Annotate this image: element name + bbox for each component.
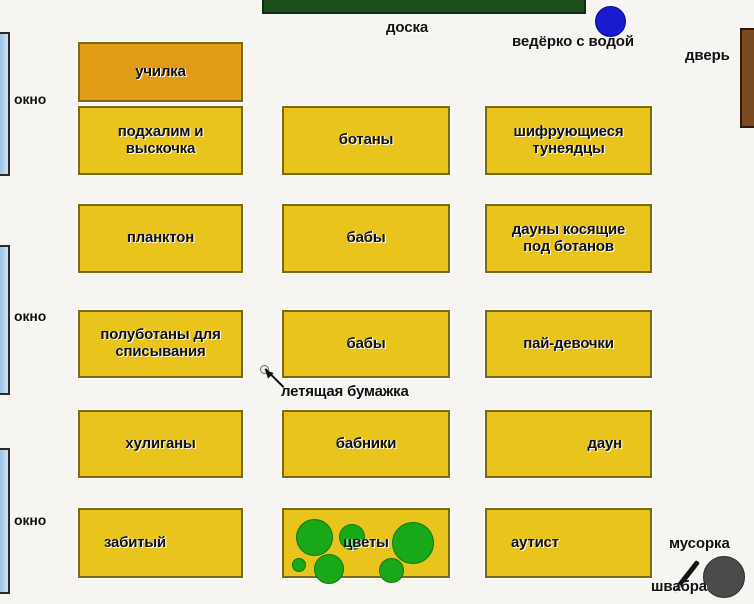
desk-r5c3[interactable]: аутист (485, 508, 652, 578)
desk-r2c2[interactable]: бабы (282, 204, 450, 273)
window-label-1: окно (14, 91, 46, 107)
desk-label: ботаны (331, 132, 401, 149)
flower-icon (379, 558, 404, 583)
window-pane-2 (0, 245, 10, 395)
desk-r4c1[interactable]: хулиганы (78, 410, 243, 478)
desk-r3c3[interactable]: пай-девочки (485, 310, 652, 378)
desk-label: бабы (339, 336, 394, 353)
desk-label: забитый (80, 535, 174, 552)
trash-bin-icon (703, 556, 745, 598)
flower-icon (392, 522, 434, 564)
desk-label: училка (127, 64, 193, 81)
desk-r4c3[interactable]: даун (485, 410, 652, 478)
desk-label: даун (580, 436, 650, 453)
desk-r4c2[interactable]: бабники (282, 410, 450, 478)
desk-label: аутист (487, 535, 567, 552)
desk-label: подхалим и выскочка (110, 124, 211, 158)
desk-r1c1[interactable]: подхалим и выскочка (78, 106, 243, 175)
desk-r5c2-flowers[interactable]: цветы (282, 508, 450, 578)
desk-label: хулиганы (117, 436, 203, 453)
desk-label: дауны косящие под ботанов (504, 222, 633, 256)
blackboard-label: доска (386, 19, 428, 36)
blackboard (262, 0, 586, 14)
desk-label: шифрующиеся тунеядцы (506, 124, 632, 158)
classroom-map: доска ведёрко с водой дверь окно окно ок… (0, 0, 754, 604)
door-label: дверь (685, 47, 730, 64)
desk-label: пай-девочки (515, 336, 622, 353)
desk-r2c1[interactable]: планктон (78, 204, 243, 273)
desk-label: бабы (339, 230, 394, 247)
window-pane-3 (0, 448, 10, 594)
desk-r2c3[interactable]: дауны косящие под ботанов (485, 204, 652, 273)
window-label-3: окно (14, 512, 46, 528)
window-pane-1 (0, 32, 10, 176)
desk-teacher[interactable]: училка (78, 42, 243, 102)
window-label-2: окно (14, 308, 46, 324)
trash-label: мусорка (669, 535, 730, 552)
flower-icon (314, 554, 344, 584)
desk-r1c3[interactable]: шифрующиеся тунеядцы (485, 106, 652, 175)
water-bucket-label: ведёрко с водой (512, 33, 634, 50)
desk-r3c1[interactable]: полуботаны для списывания (78, 310, 243, 378)
desk-r3c2[interactable]: бабы (282, 310, 450, 378)
desk-r1c2[interactable]: ботаны (282, 106, 450, 175)
flower-icon (296, 519, 333, 556)
desk-label: полуботаны для списывания (92, 327, 228, 361)
door[interactable] (740, 28, 754, 128)
mop-label: швабра (651, 578, 707, 595)
desk-label: цветы (335, 535, 397, 552)
flying-paper-label: летящая бумажка (281, 383, 409, 400)
flower-icon (292, 558, 306, 572)
desk-label: планктон (119, 230, 202, 247)
desk-label: бабники (328, 436, 404, 453)
desk-r5c1[interactable]: забитый (78, 508, 243, 578)
